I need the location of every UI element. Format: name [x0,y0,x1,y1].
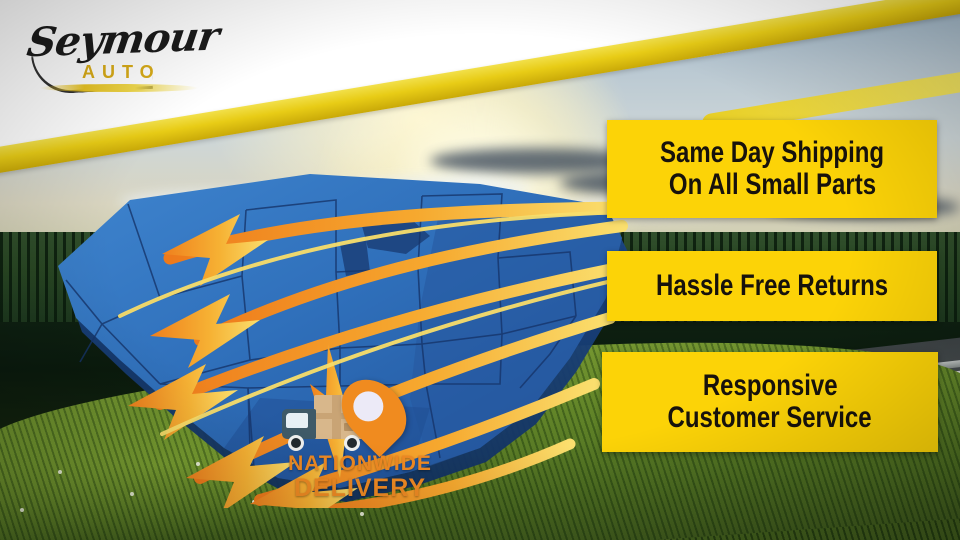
promo-banner-graphic: NATIONWIDE DELIVERY Seymour AUTO Same Da… [0,0,960,540]
banner-1-line-1: Same Day Shipping [660,137,884,169]
nationwide-delivery-caption: NATIONWIDE DELIVERY [265,453,455,501]
banner-1-line-2: On All Small Parts [668,169,875,201]
banner-responsive-customer-service: Responsive Customer Service [602,352,938,452]
caption-line-2: DELIVERY [265,475,455,501]
caption-line-1: NATIONWIDE [265,453,455,475]
banner-same-day-shipping: Same Day Shipping On All Small Parts [607,120,937,218]
flower [360,512,364,516]
banner-2-line-1: Hassle Free Returns [656,270,888,302]
logo-brand-name: Seymour [24,13,221,67]
nationwide-delivery-map: NATIONWIDE DELIVERY [10,148,640,508]
banner-3-line-1: Responsive [703,370,838,402]
seymour-auto-logo[interactable]: Seymour AUTO [22,14,222,96]
banner-hassle-free-returns: Hassle Free Returns [607,251,937,321]
logo-underline-swoosh [40,84,198,92]
banner-3-line-2: Customer Service [668,402,872,434]
logo-brand-sub: AUTO [82,62,161,83]
flower [20,508,24,512]
